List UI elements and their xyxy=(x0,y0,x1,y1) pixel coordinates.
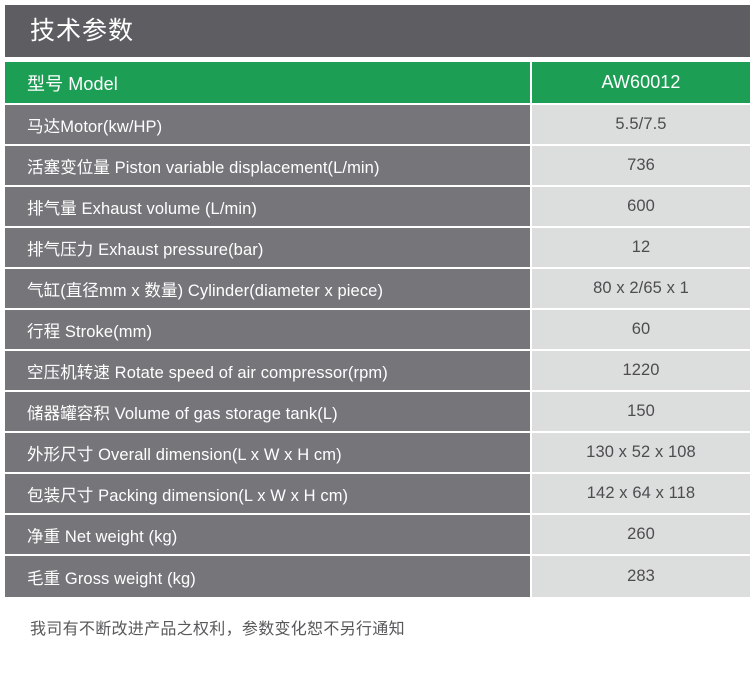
spec-value: 12 xyxy=(530,228,750,269)
spec-value: 150 xyxy=(530,392,750,433)
table-row: 储器罐容积 Volume of gas storage tank(L) 150 xyxy=(5,392,750,433)
spec-label: 排气压力 Exhaust pressure(bar) xyxy=(5,228,530,269)
spec-label: 净重 Net weight (kg) xyxy=(5,515,530,556)
spec-value: 260 xyxy=(530,515,750,556)
spec-label: 活塞变位量 Piston variable displacement(L/min… xyxy=(5,146,530,187)
spec-title-bar: 技术参数 xyxy=(5,5,750,57)
spec-label: 行程 Stroke(mm) xyxy=(5,310,530,351)
spec-value: 283 xyxy=(530,556,750,597)
table-header-value: AW60012 xyxy=(530,62,750,105)
table-row: 气缸(直径mm x 数量) Cylinder(diameter x piece)… xyxy=(5,269,750,310)
spec-sheet-page: 技术参数 型号 Model AW60012 马达Motor(kw/HP) 5.5… xyxy=(0,0,750,674)
table-row: 空压机转速 Rotate speed of air compressor(rpm… xyxy=(5,351,750,392)
disclaimer-note: 我司有不断改进产品之权利，参数变化恕不另行通知 xyxy=(30,615,405,639)
spec-value: 60 xyxy=(530,310,750,351)
spec-label: 外形尺寸 Overall dimension(L x W x H cm) xyxy=(5,433,530,474)
spec-label: 包装尺寸 Packing dimension(L x W x H cm) xyxy=(5,474,530,515)
table-row: 排气量 Exhaust volume (L/min) 600 xyxy=(5,187,750,228)
table-row: 净重 Net weight (kg) 260 xyxy=(5,515,750,556)
spec-label: 储器罐容积 Volume of gas storage tank(L) xyxy=(5,392,530,433)
table-row: 毛重 Gross weight (kg) 283 xyxy=(5,556,750,597)
table-row: 排气压力 Exhaust pressure(bar) 12 xyxy=(5,228,750,269)
table-row: 马达Motor(kw/HP) 5.5/7.5 xyxy=(5,105,750,146)
spec-value: 600 xyxy=(530,187,750,228)
specifications-table-body: 型号 Model AW60012 马达Motor(kw/HP) 5.5/7.5 … xyxy=(5,62,750,597)
spec-label: 气缸(直径mm x 数量) Cylinder(diameter x piece) xyxy=(5,269,530,310)
spec-value: 80 x 2/65 x 1 xyxy=(530,269,750,310)
specifications-table: 型号 Model AW60012 马达Motor(kw/HP) 5.5/7.5 … xyxy=(5,62,750,597)
spec-value: 736 xyxy=(530,146,750,187)
table-row: 包装尺寸 Packing dimension(L x W x H cm) 142… xyxy=(5,474,750,515)
spec-label: 马达Motor(kw/HP) xyxy=(5,105,530,146)
spec-label: 排气量 Exhaust volume (L/min) xyxy=(5,187,530,228)
table-row: 外形尺寸 Overall dimension(L x W x H cm) 130… xyxy=(5,433,750,474)
page-title: 技术参数 xyxy=(5,19,134,44)
table-row: 活塞变位量 Piston variable displacement(L/min… xyxy=(5,146,750,187)
table-header-row: 型号 Model AW60012 xyxy=(5,62,750,105)
spec-value: 1220 xyxy=(530,351,750,392)
table-row: 行程 Stroke(mm) 60 xyxy=(5,310,750,351)
spec-value: 142 x 64 x 118 xyxy=(530,474,750,515)
spec-label: 空压机转速 Rotate speed of air compressor(rpm… xyxy=(5,351,530,392)
table-header-label: 型号 Model xyxy=(5,62,530,105)
spec-label: 毛重 Gross weight (kg) xyxy=(5,556,530,597)
spec-value: 5.5/7.5 xyxy=(530,105,750,146)
spec-value: 130 x 52 x 108 xyxy=(530,433,750,474)
